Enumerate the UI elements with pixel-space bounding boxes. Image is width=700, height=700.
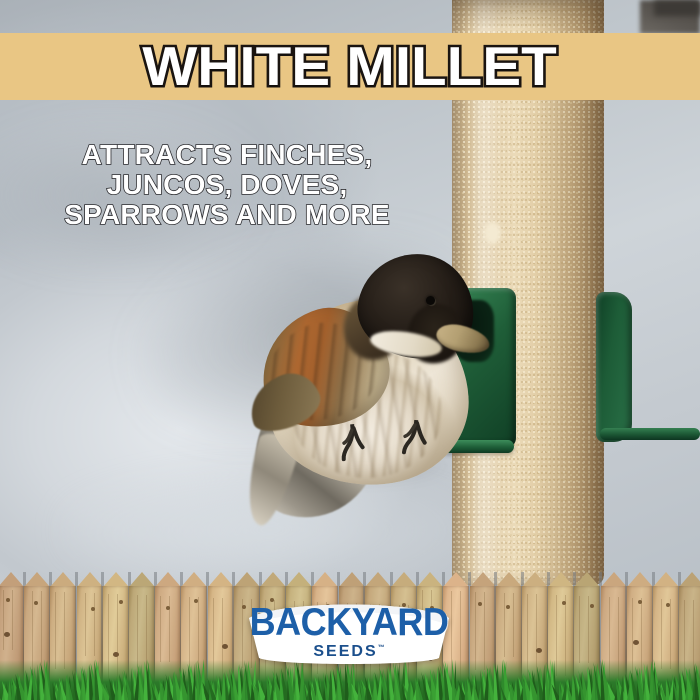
poster-canvas: WHITE MILLET ATTRACTS FINCHES, JUNCOS, D… xyxy=(0,0,700,700)
fence-picket-tip xyxy=(129,572,155,587)
fence-picket-tip xyxy=(0,572,24,587)
trademark-icon: ™ xyxy=(378,645,385,652)
logo-brand-text: BACKYARD xyxy=(243,603,455,642)
fence-picket-tip xyxy=(470,572,496,587)
fence-knot xyxy=(119,600,123,604)
feeder-port-right xyxy=(596,292,632,442)
fence-picket-tip xyxy=(234,572,260,587)
fence-picket-tip xyxy=(103,572,129,587)
fence-grain xyxy=(504,593,505,657)
fence-picket-tip xyxy=(443,572,469,587)
fence-grain xyxy=(94,593,95,656)
fence-picket-tip xyxy=(391,572,417,587)
bird-foot-left xyxy=(336,422,374,461)
title-banner: WHITE MILLET xyxy=(0,33,700,100)
fence-picket-tip xyxy=(679,572,700,587)
fence-knot xyxy=(478,602,482,606)
grass-blade xyxy=(542,664,545,700)
fence-grain xyxy=(579,596,580,663)
fence-picket-tip xyxy=(24,572,50,587)
fence-picket-tip xyxy=(548,572,574,587)
fence-grain xyxy=(588,596,589,663)
bird-foot-right xyxy=(397,419,433,457)
fence-picket-tip xyxy=(77,572,103,587)
fence-picket-tip xyxy=(653,572,679,587)
logo-text-wrap: BACKYARD SEEDS™ xyxy=(243,604,455,661)
fence-grain xyxy=(3,590,4,650)
fence-picket-tip xyxy=(50,572,76,587)
fence-grain xyxy=(513,593,514,657)
fence-picket-tip xyxy=(339,572,365,587)
bird-eye xyxy=(426,296,435,305)
fence-grain xyxy=(85,593,86,656)
fence-grain xyxy=(169,596,170,662)
fence-picket-tip xyxy=(365,572,391,587)
fence-grain xyxy=(160,596,161,662)
fence-knot xyxy=(6,598,10,602)
logo-product-label: SEEDS xyxy=(313,643,377,660)
bird-illustration xyxy=(240,248,510,538)
fence-picket-tip xyxy=(574,572,600,587)
subtitle-block: ATTRACTS FINCHES, JUNCOS, DOVES, SPARROW… xyxy=(14,140,440,231)
feeder-seed-highlight xyxy=(484,222,501,244)
logo-product-text: SEEDS™ xyxy=(313,643,384,661)
fence-picket-tip xyxy=(417,572,443,587)
fence-picket-tip xyxy=(286,572,312,587)
fence-picket-tip xyxy=(181,572,207,587)
feeder-perch-right xyxy=(600,428,700,440)
fence-knot xyxy=(506,605,510,609)
fence-picket-tip xyxy=(522,572,548,587)
fence-picket-tip xyxy=(155,572,181,587)
fence-picket-tip xyxy=(312,572,338,587)
fence-knot xyxy=(633,640,639,645)
brand-logo: BACKYARD SEEDS™ xyxy=(243,598,455,670)
fence-picket-tip xyxy=(627,572,653,587)
fence-picket-tip xyxy=(601,572,627,587)
fence-picket-tip xyxy=(208,572,234,587)
background-dark-corner-inner xyxy=(654,0,700,16)
feeder-top-shadow xyxy=(452,0,604,30)
fence-picket-tip xyxy=(260,572,286,587)
page-title: WHITE MILLET xyxy=(143,39,558,94)
subtitle-line-1: ATTRACTS FINCHES, xyxy=(14,140,440,170)
grass-blade xyxy=(0,684,1,700)
subtitle-line-2: JUNCOS, DOVES, xyxy=(14,170,440,200)
fence-picket-tip xyxy=(496,572,522,587)
grass-blade xyxy=(115,676,118,700)
fence-knot xyxy=(4,632,10,637)
fence-grain xyxy=(12,590,13,650)
subtitle-line-3: SPARROWS AND MORE xyxy=(14,200,440,230)
